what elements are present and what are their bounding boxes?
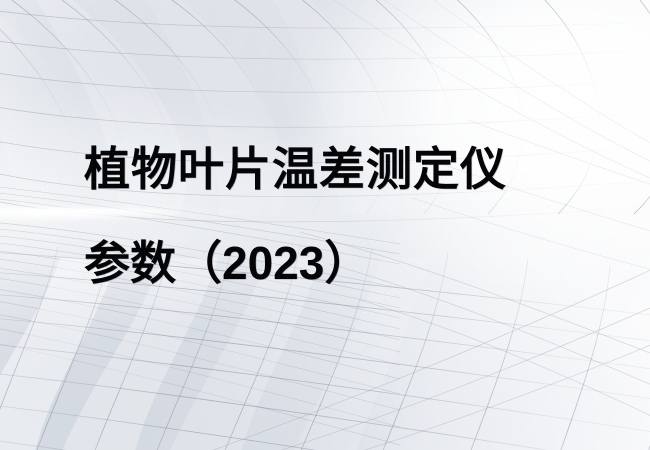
title-line-2: 参数（2023）: [84, 216, 604, 310]
page-title: 植物叶片温差测定仪 参数（2023）: [84, 122, 604, 310]
title-banner: 植物叶片温差测定仪 参数（2023）: [0, 0, 650, 450]
title-line-1: 植物叶片温差测定仪: [84, 122, 604, 216]
